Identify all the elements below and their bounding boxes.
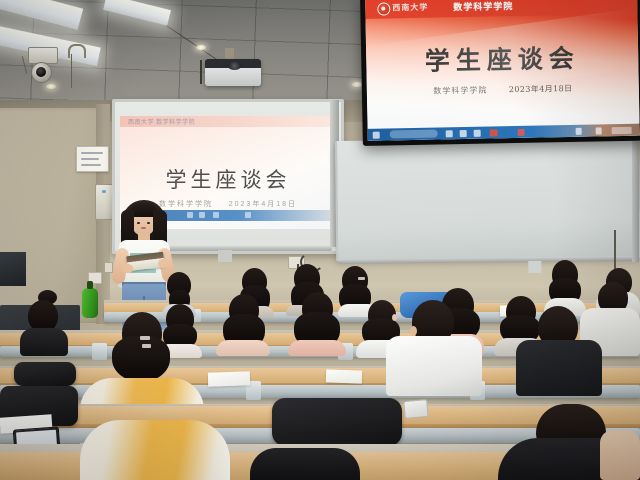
slide-header-text: 西南大学 数学科学学院 bbox=[128, 117, 195, 126]
projector-lens-icon bbox=[228, 62, 241, 70]
student-body bbox=[216, 340, 270, 356]
student-row4-c bbox=[216, 294, 270, 356]
student-body bbox=[516, 340, 602, 396]
slide-subtitle-line: 数学科学学院 2023年4月18日 bbox=[367, 82, 639, 98]
whiteboard bbox=[335, 138, 640, 261]
sign-text-line bbox=[81, 152, 103, 154]
security-camera-icon bbox=[31, 62, 52, 83]
slide-organizer: 数学科学学院 bbox=[433, 86, 487, 96]
student-body bbox=[288, 340, 346, 356]
projector-wire bbox=[200, 60, 203, 84]
black-backpack bbox=[272, 398, 402, 446]
taskbar-powerpoint-icon[interactable] bbox=[490, 129, 498, 136]
green-bottle bbox=[82, 288, 98, 318]
sign-text-line bbox=[81, 164, 101, 166]
hanging-wire bbox=[71, 54, 72, 88]
student-front-far-right bbox=[600, 430, 640, 480]
tv-screen: 西南大学 数学科学学院 学生座谈会 数学科学学院 2023年4月18日 bbox=[365, 0, 640, 141]
lecture-hall-photo: 西南大学 数学科学学院 学生座谈会 数学科学学院 2023年4月18日 bbox=[0, 0, 640, 480]
paper-sheets bbox=[326, 369, 362, 383]
taskbar-app-icon[interactable] bbox=[474, 129, 481, 136]
slide-date: 2023年4月18日 bbox=[509, 84, 573, 94]
taskbar-app-icon[interactable] bbox=[213, 212, 219, 218]
student-body bbox=[20, 328, 68, 356]
student-body bbox=[80, 420, 230, 480]
taskbar-app-icon[interactable] bbox=[187, 212, 193, 218]
student-hair bbox=[112, 336, 170, 382]
wall-sign bbox=[76, 146, 109, 172]
taskbar-app-icon[interactable] bbox=[199, 212, 205, 218]
hair-clip bbox=[140, 336, 150, 340]
ceiling-downlight bbox=[196, 45, 206, 50]
paper-sheets bbox=[208, 371, 250, 386]
taskbar-tray-icon[interactable] bbox=[576, 127, 582, 134]
slide-title: 学生座谈会 bbox=[120, 164, 336, 194]
left-wall-dark-panel bbox=[0, 252, 26, 286]
wall-mounted-tv[interactable]: 西南大学 数学科学学院 学生座谈会 数学科学学院 2023年4月18日 bbox=[360, 0, 640, 146]
taskbar-tray-icon[interactable] bbox=[596, 127, 602, 134]
student-dark-shirt-right bbox=[516, 306, 602, 396]
camera-lens-icon bbox=[36, 67, 46, 77]
smartphone bbox=[403, 399, 428, 419]
taskbar-app-icon[interactable] bbox=[245, 212, 251, 218]
hair-clip bbox=[142, 344, 151, 348]
windows-taskbar[interactable] bbox=[368, 124, 640, 141]
slide-date: 2023年4月18日 bbox=[229, 201, 297, 208]
presenter-mouth bbox=[141, 227, 146, 229]
school-name-header: 数学科学学院 bbox=[453, 0, 513, 13]
whiteboard-side-rail bbox=[632, 140, 639, 262]
presenter-eye bbox=[137, 222, 140, 224]
ceiling-downlight bbox=[46, 84, 56, 89]
student-white-shirt-right bbox=[386, 300, 482, 396]
student-body bbox=[600, 430, 640, 480]
student-row4-a bbox=[20, 298, 68, 356]
taskbar-search-input[interactable] bbox=[390, 130, 438, 139]
panel-indicator-light bbox=[102, 190, 106, 193]
taskbar-task-view-icon[interactable] bbox=[446, 130, 453, 137]
student-body bbox=[386, 336, 482, 396]
student-row4-d bbox=[288, 292, 346, 356]
whiteboard-mount bbox=[528, 261, 541, 273]
taskbar-app-icon[interactable] bbox=[460, 129, 467, 136]
taskbar-app-icon[interactable] bbox=[518, 128, 525, 135]
student-body bbox=[250, 448, 360, 480]
student-front-left bbox=[80, 420, 230, 480]
ceiling-downlight bbox=[352, 82, 362, 87]
presenter-eye bbox=[147, 222, 150, 224]
student-ear bbox=[410, 326, 417, 336]
taskbar-start-icon[interactable] bbox=[373, 131, 380, 138]
screen-wall-mount bbox=[218, 250, 232, 262]
black-handbag bbox=[14, 362, 76, 386]
sign-text-line bbox=[81, 158, 99, 160]
slide-main-title: 学生座谈会 bbox=[366, 38, 639, 79]
student-front-center bbox=[250, 448, 360, 480]
taskbar-clock[interactable] bbox=[612, 126, 632, 133]
hair-clip bbox=[358, 277, 365, 280]
tv-slide: 西南大学 数学科学学院 学生座谈会 数学科学学院 2023年4月18日 bbox=[365, 0, 640, 141]
university-name: 西南大学 bbox=[392, 2, 428, 14]
